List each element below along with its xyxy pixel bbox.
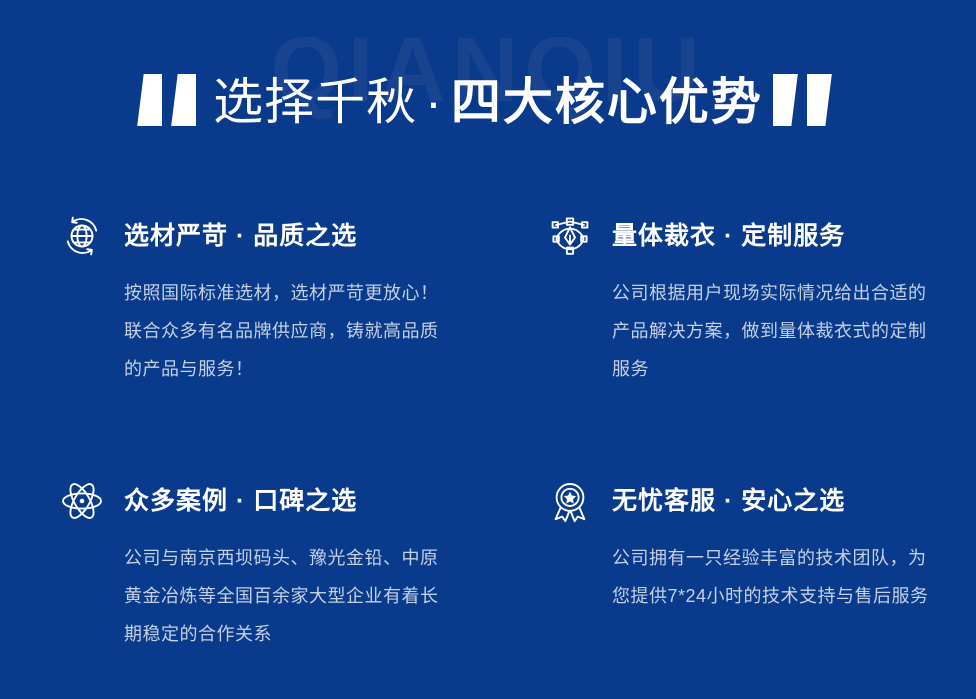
advantage-card-body: 公司与南京西坝码头、豫光金铅、中原黄金冶炼等全国百余家大型企业有着长期稳定的合作… (124, 539, 448, 653)
advantage-card-header: 众多案例 · 口碑之选 (58, 477, 448, 525)
advantage-card-quality: 选材严苛 · 品质之选 按照国际标准选材，选材严苛更放心！联合众多有名品牌供应商… (0, 182, 488, 447)
advantage-card-custom: 量体裁衣 · 定制服务 公司根据用户现场实际情况给出合适的产品解决方案，做到量体… (488, 182, 976, 447)
page-title-strong: 四大核心优势 (445, 72, 769, 132)
advantage-card-title: 选材严苛 · 品质之选 (124, 221, 357, 251)
banner-header: QIANQIU 选择千秋 · 四大核心优势 (0, 0, 976, 182)
advantage-card-title: 量体裁衣 · 定制服务 (612, 221, 845, 251)
advantage-card-service: 无忧客服 · 安心之选 公司拥有一只经验丰富的技术团队，为您提供7*24小时的技… (488, 447, 976, 699)
advantage-card-header: 无忧客服 · 安心之选 (546, 477, 936, 525)
advantages-banner: QIANQIU 选择千秋 · 四大核心优势 (0, 0, 976, 699)
globe-refresh-icon (58, 212, 106, 260)
open-quote-icon (133, 74, 207, 130)
award-medal-icon (546, 477, 594, 525)
advantages-grid: 选材严苛 · 品质之选 按照国际标准选材，选材严苛更放心！联合众多有名品牌供应商… (0, 182, 976, 699)
advantage-card-title: 无忧客服 · 安心之选 (612, 486, 845, 516)
advantage-card-cases: 众多案例 · 口碑之选 公司与南京西坝码头、豫光金铅、中原黄金冶炼等全国百余家大… (0, 447, 488, 699)
advantage-card-body: 按照国际标准选材，选材严苛更放心！联合众多有名品牌供应商，铸就高品质的产品与服务… (124, 274, 448, 388)
pen-tool-icon (546, 212, 594, 260)
advantage-card-header: 选材严苛 · 品质之选 (58, 212, 448, 260)
page-title-separator: · (423, 72, 445, 132)
page-title: 选择千秋 · 四大核心优势 (0, 72, 976, 132)
advantage-card-body: 公司根据用户现场实际情况给出合适的产品解决方案，做到量体裁衣式的定制服务 (612, 274, 936, 388)
advantage-card-header: 量体裁衣 · 定制服务 (546, 212, 936, 260)
advantage-card-title: 众多案例 · 口碑之选 (124, 486, 357, 516)
close-quote-icon (769, 74, 843, 130)
page-title-light: 选择千秋 (207, 72, 423, 132)
atom-icon (58, 477, 106, 525)
advantage-card-body: 公司拥有一只经验丰富的技术团队，为您提供7*24小时的技术支持与售后服务 (612, 539, 936, 615)
